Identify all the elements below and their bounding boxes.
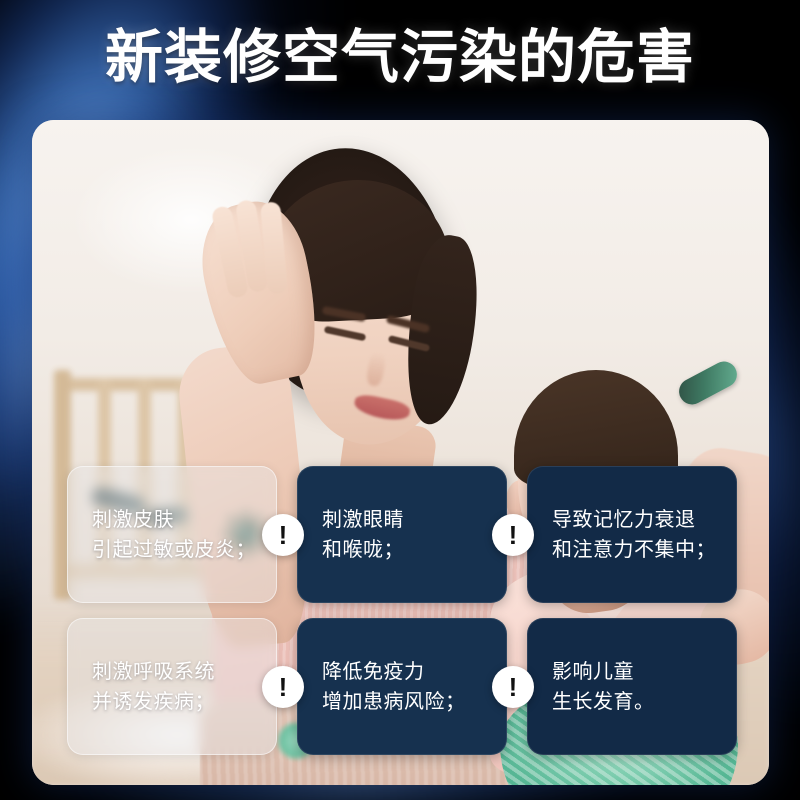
hazard-card-skin-text: 刺激皮肤 引起过敏或皮炎； bbox=[92, 505, 256, 565]
hazard-card-immunity[interactable]: 降低免疫力 增加患病风险； bbox=[297, 618, 507, 755]
hazard-card-memory-text: 导致记忆力衰退 和注意力不集中； bbox=[552, 505, 716, 565]
hazard-card-respiratory-text: 刺激呼吸系统 并诱发疾病； bbox=[92, 657, 215, 717]
exclamation-badge-icon: ! bbox=[492, 514, 534, 556]
hazard-card-eyes[interactable]: 刺激眼睛 和喉咙； bbox=[297, 466, 507, 603]
hazard-card-grid: 刺激皮肤 引起过敏或皮炎； 刺激眼睛 和喉咙； 导致记忆力衰退 和注意力不集中；… bbox=[67, 466, 737, 756]
hazard-card-eyes-text: 刺激眼睛 和喉咙； bbox=[322, 505, 404, 565]
hazard-card-skin[interactable]: 刺激皮肤 引起过敏或皮炎； bbox=[67, 466, 277, 603]
hazard-card-immunity-text: 降低免疫力 增加患病风险； bbox=[322, 657, 466, 717]
hazard-row-1: 刺激皮肤 引起过敏或皮炎； 刺激眼睛 和喉咙； 导致记忆力衰退 和注意力不集中； bbox=[67, 466, 737, 603]
exclamation-badge-icon: ! bbox=[492, 666, 534, 708]
exclamation-badge-icon: ! bbox=[262, 666, 304, 708]
hazard-row-2: 刺激呼吸系统 并诱发疾病； 降低免疫力 增加患病风险； 影响儿童 生长发育。 bbox=[67, 618, 737, 755]
exclamation-badge-icon: ! bbox=[262, 514, 304, 556]
hazard-card-respiratory[interactable]: 刺激呼吸系统 并诱发疾病； bbox=[67, 618, 277, 755]
hazard-card-memory[interactable]: 导致记忆力衰退 和注意力不集中； bbox=[527, 466, 737, 603]
hazard-card-growth[interactable]: 影响儿童 生长发育。 bbox=[527, 618, 737, 755]
hazard-card-growth-text: 影响儿童 生长发育。 bbox=[552, 657, 655, 717]
page-title: 新装修空气污染的危害 bbox=[0, 26, 800, 90]
poster-stage: 新装修空气污染的危害 bbox=[0, 0, 800, 800]
